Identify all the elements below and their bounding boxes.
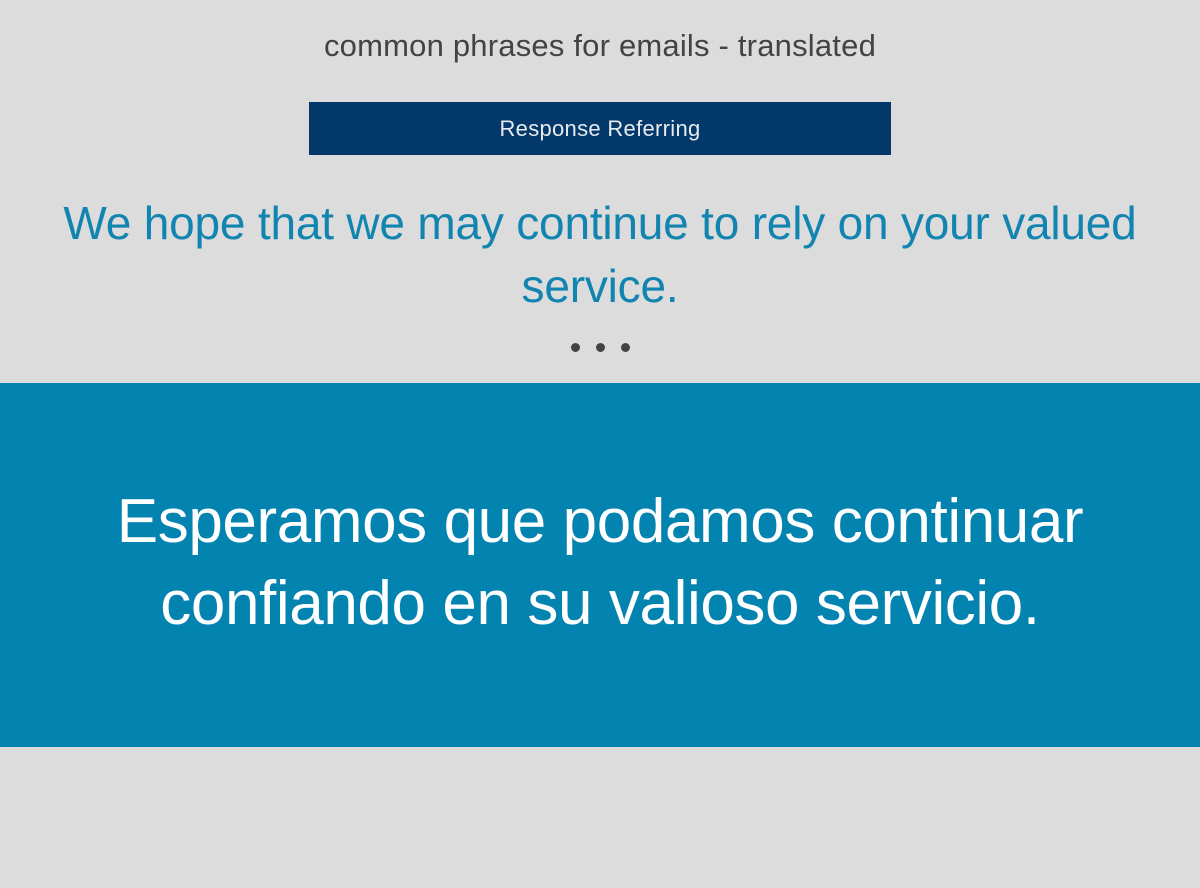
page-title: common phrases for emails - translated — [0, 24, 1200, 68]
translation-phrase: Esperamos que podamos continuar confiand… — [100, 481, 1100, 649]
translation-band: Esperamos que podamos continuar confiand… — [0, 383, 1200, 747]
flashcard-slide: common phrases for emails - translated R… — [0, 0, 1200, 888]
category-badge: Response Referring — [309, 102, 891, 155]
category-badge-label: Response Referring — [499, 118, 700, 140]
ellipsis-dot — [621, 343, 630, 352]
ellipsis-dot — [571, 343, 580, 352]
source-phrase: We hope that we may continue to rely on … — [60, 192, 1140, 318]
footer-area — [0, 747, 1200, 888]
ellipsis-dot — [596, 343, 605, 352]
ellipsis-icon — [0, 343, 1200, 352]
